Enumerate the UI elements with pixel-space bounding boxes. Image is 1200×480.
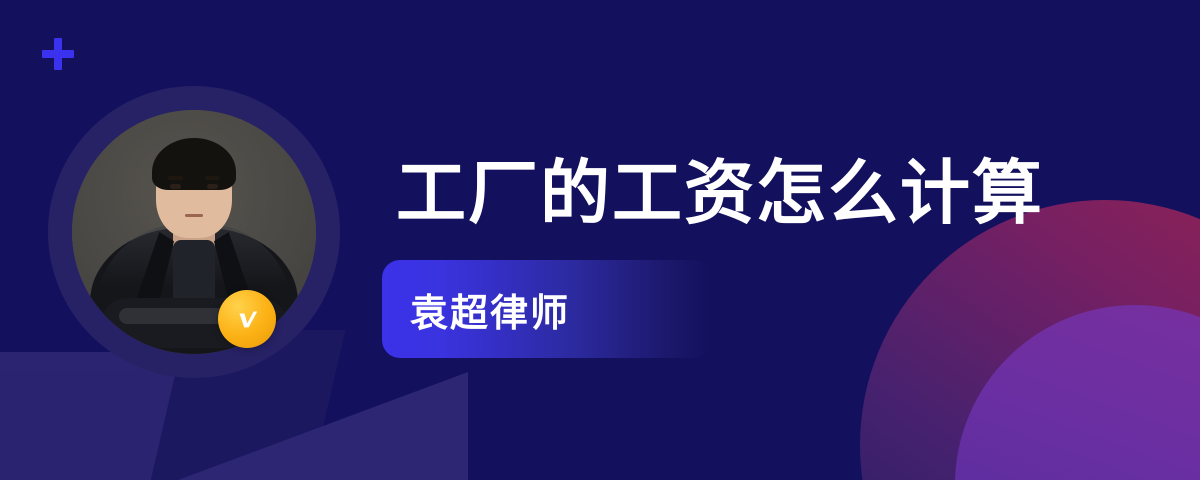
promo-banner: 工厂的工资怎么计算 袁超律师 [0,0,1200,480]
decor-circle-violet [955,305,1200,480]
verified-badge-icon [218,290,276,348]
decor-wedge-triangle [178,372,468,480]
portrait-mouth [185,214,203,217]
decor-circle-crimson [860,200,1200,480]
portrait-eye-left [170,184,181,189]
avatar-photo [72,110,316,354]
presenter-name-badge: 袁超律师 [382,260,712,358]
page-title: 工厂的工资怎么计算 [396,158,1044,228]
presenter-name: 袁超律师 [410,282,570,337]
portrait-eyebrow-right [205,176,220,180]
portrait-eyebrow-left [168,176,183,180]
plus-icon [42,38,74,70]
avatar [48,86,340,378]
decor-block-bottom-left [0,370,150,480]
portrait-eye-right [207,184,218,189]
